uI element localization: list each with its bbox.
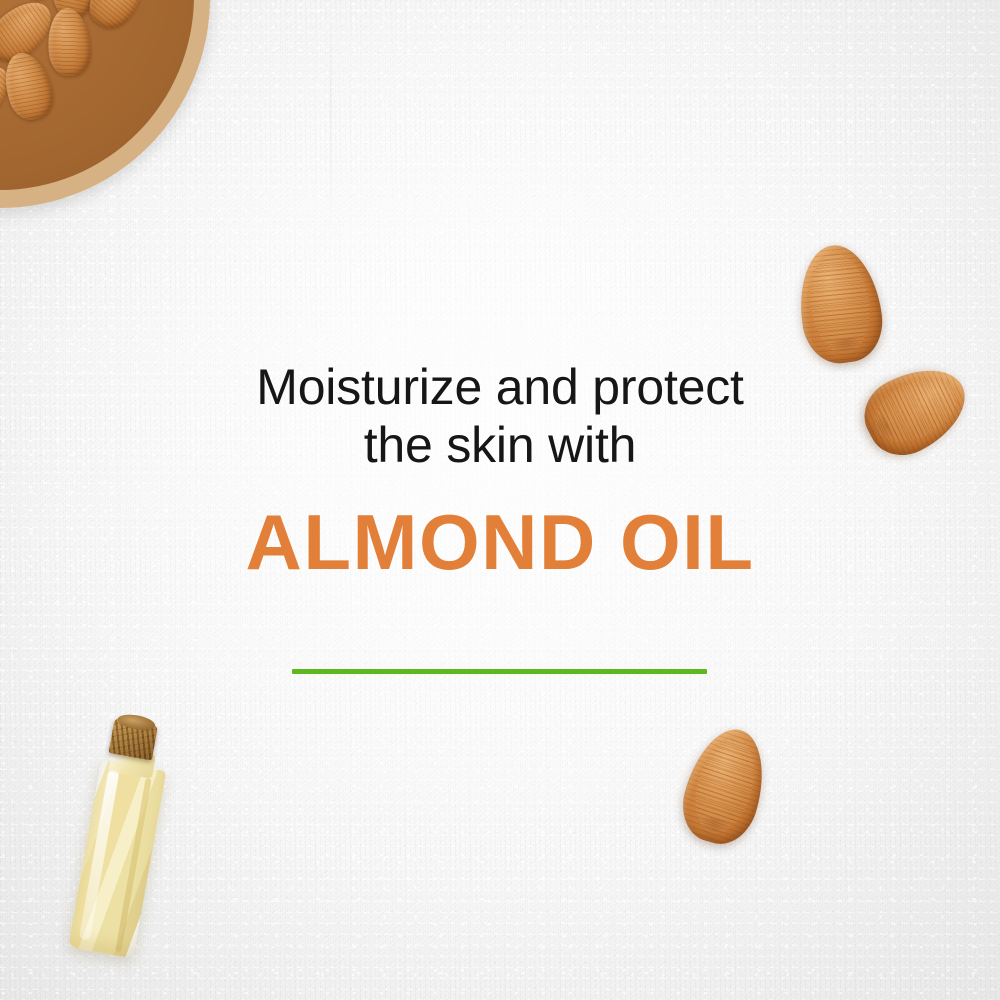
brand-title: ALMOND OIL [0, 502, 1000, 582]
promo-banner: Moisturize and protect the skin with ALM… [0, 0, 1000, 1000]
green-divider [292, 669, 707, 674]
headline-text: Moisturize and protect the skin with [0, 358, 1000, 474]
bowl-almond [46, 7, 93, 78]
headline-block: Moisturize and protect the skin with ALM… [0, 358, 1000, 582]
bowl-almond [81, 0, 156, 36]
paper-seam-center [330, 0, 332, 250]
